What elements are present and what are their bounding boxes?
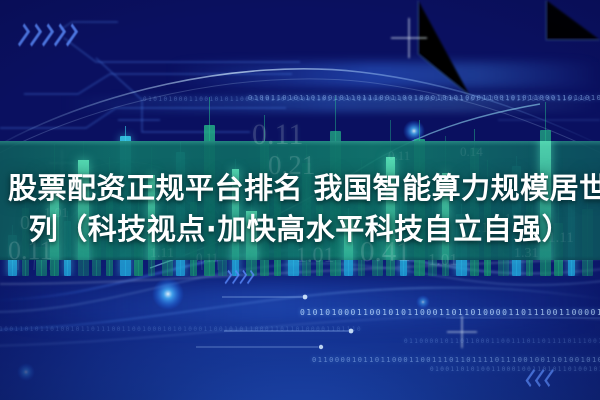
headline-line-1: 股票配资正规平台排名 我国智能算力规模居世界前	[8, 168, 592, 209]
tech-finance-banner: 0.110.210.411.010.110.111.001.011.110.11…	[0, 0, 600, 400]
headline-line-2: 列（科技视点·加快高水平科技自立自强）	[8, 209, 592, 250]
page-title: 股票配资正规平台排名 我国智能算力规模居世界前 列（科技视点·加快高水平科技自立…	[0, 168, 600, 250]
